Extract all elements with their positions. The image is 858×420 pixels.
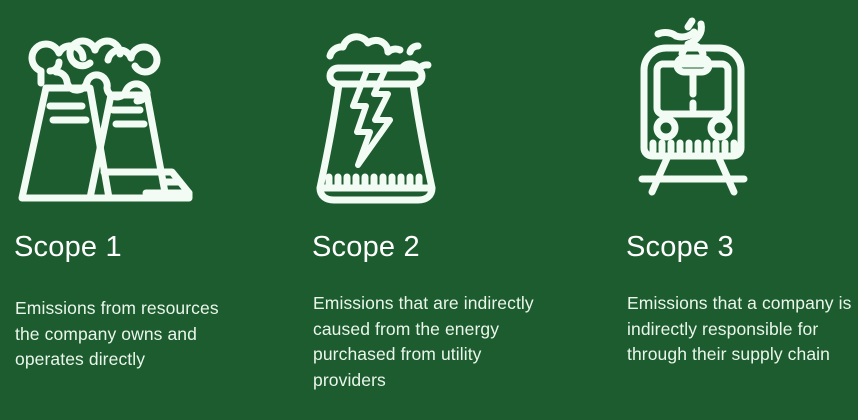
scope-column-1: Scope 1 Emissions from resources the com…: [0, 0, 300, 420]
scopes-emissions-infographic: Scope 1 Emissions from resources the com…: [0, 0, 858, 420]
scope-description: Emissions from resources the company own…: [15, 296, 245, 373]
factory-cooling-towers-smoke-icon: [12, 10, 202, 210]
scope-column-2: Scope 2 Emissions that are indirectly ca…: [300, 0, 612, 420]
scope-description: Emissions that are indirectly caused fro…: [313, 291, 558, 393]
scope-description: Emissions that a company is indirectly r…: [627, 291, 858, 368]
power-plant-cooling-tower-lightning-bolt-icon: [312, 10, 497, 210]
scope-column-3: Scope 3 Emissions that a company is indi…: [612, 0, 858, 420]
train-front-rails-icon: [626, 10, 806, 210]
scope-title: Scope 1: [14, 230, 122, 264]
scope-title: Scope 2: [312, 230, 420, 264]
scope-title: Scope 3: [626, 230, 734, 264]
